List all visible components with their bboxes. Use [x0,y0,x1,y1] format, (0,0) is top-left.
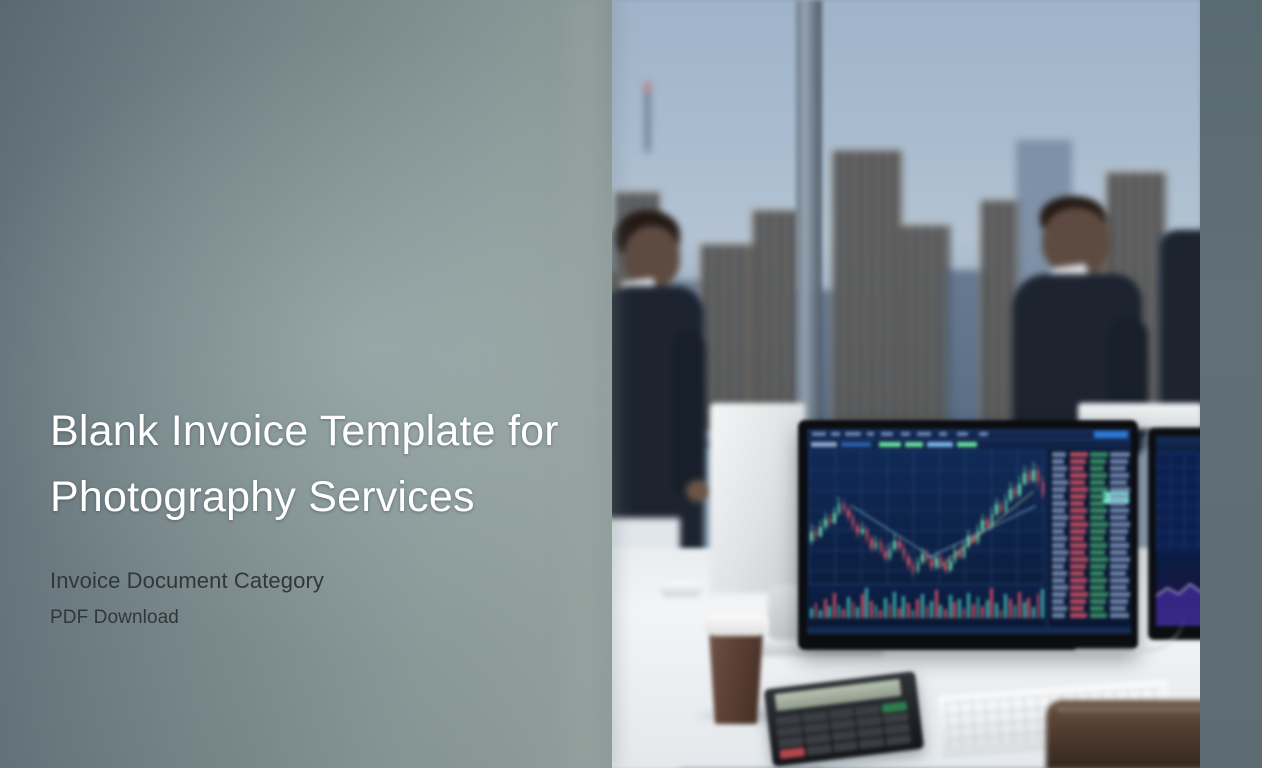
imac-monitor-back [710,403,805,593]
screen-subtoolbar [807,440,1131,449]
order-book-row [1050,494,1129,500]
order-book-row [1050,473,1129,479]
order-book-row [1050,480,1129,486]
order-book-row [1050,501,1129,507]
order-book-row [1050,459,1129,465]
order-book-row [1050,592,1129,598]
page-title: Blank Invoice Template for Photography S… [50,398,595,530]
secondary-toolbar [1156,436,1200,445]
order-book-row [1050,529,1129,535]
order-book-row [1050,599,1129,605]
secondary-subtoolbar [1156,445,1200,452]
slide-root: Blank Invoice Template for Photography S… [0,0,1262,768]
wall-edge-blur [556,0,626,768]
order-book-row [1050,466,1129,472]
left-wall-panel [0,0,612,768]
screen-toolbar [807,429,1131,440]
order-book-panel [1047,450,1131,627]
cup-body [709,632,763,724]
order-book-row [1050,550,1129,556]
chair-highlight [1056,706,1200,712]
trading-monitor-secondary [1148,428,1200,640]
order-book-row [1050,522,1129,528]
cup-lid [704,614,768,636]
order-book-row [1050,543,1129,549]
title-block: Blank Invoice Template for Photography S… [50,398,610,631]
calculator-keypad [775,701,911,759]
order-book-row [1050,571,1129,577]
order-book-row [1050,564,1129,570]
secondary-divider [1156,554,1200,566]
coffee-cup [707,614,765,724]
trading-screen [807,429,1131,634]
mouse [660,582,702,597]
order-book-row [1050,585,1129,591]
secondary-grid [1156,453,1200,549]
download-format: PDF Download [50,605,610,631]
candlestick-chart [809,450,1045,596]
order-book-row [1050,557,1129,563]
volume-histogram [809,584,1045,618]
order-book-row [1050,515,1129,521]
document-category: Invoice Document Category [50,566,610,596]
businessman-right-partial [1160,230,1200,430]
trading-screen-secondary [1156,436,1200,626]
order-book-row [1050,578,1129,584]
order-book-row [1050,452,1129,458]
right-edge-strip [1200,0,1262,768]
order-book-row [1050,508,1129,514]
order-book-row [1050,487,1129,493]
toolbar-accent-button [1094,431,1128,438]
order-book-row [1050,536,1129,542]
